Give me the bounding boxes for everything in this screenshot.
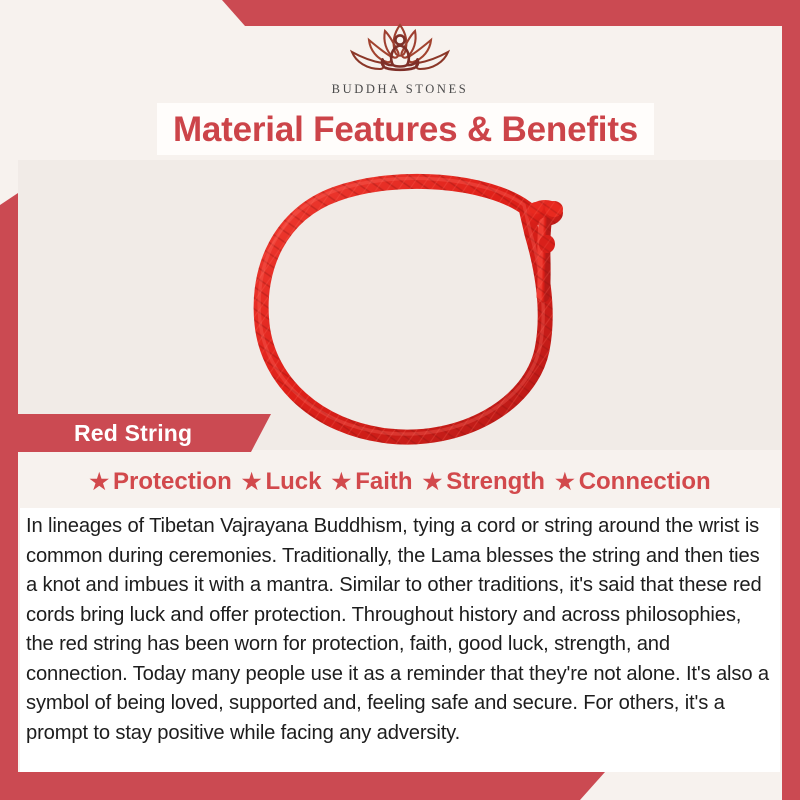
star-icon: ★ <box>555 471 575 493</box>
description-card: In lineages of Tibetan Vajrayana Buddhis… <box>20 508 780 772</box>
benefit-item-strength: ★ Strength <box>423 470 545 494</box>
material-label-text: Red String <box>74 422 192 445</box>
benefit-label: Faith <box>355 470 412 494</box>
star-icon: ★ <box>331 471 351 493</box>
benefit-label: Connection <box>579 470 711 494</box>
headline-banner: Material Features & Benefits <box>157 103 654 155</box>
infographic-poster: BUDDHA STONES Material Features & Benefi… <box>0 0 800 800</box>
benefits-row: ★ Protection ★ Luck ★ Faith ★ Strength ★… <box>18 464 782 500</box>
decorative-right-red-bar <box>782 0 800 800</box>
star-icon: ★ <box>242 471 262 493</box>
product-photo <box>18 160 782 450</box>
brand-name: BUDDHA STONES <box>0 82 800 97</box>
benefit-label: Protection <box>113 470 232 494</box>
star-icon: ★ <box>89 471 109 493</box>
benefit-item-faith: ★ Faith <box>331 470 412 494</box>
material-label-ribbon: Red String <box>18 414 271 452</box>
benefit-label: Strength <box>446 470 545 494</box>
decorative-bottom-red-bar <box>0 772 640 800</box>
brand-logo: BUDDHA STONES <box>0 16 800 97</box>
red-string-bracelet-illustration <box>18 160 782 450</box>
benefit-item-connection: ★ Connection <box>555 470 711 494</box>
lotus-meditation-figure-icon <box>325 16 475 80</box>
benefit-item-luck: ★ Luck <box>242 470 322 494</box>
description-paragraph: In lineages of Tibetan Vajrayana Buddhis… <box>26 512 774 748</box>
decorative-left-red-bar <box>0 193 18 800</box>
benefit-item-protection: ★ Protection <box>89 470 231 494</box>
page-title: Material Features & Benefits <box>173 112 638 147</box>
benefit-label: Luck <box>265 470 321 494</box>
star-icon: ★ <box>423 471 443 493</box>
